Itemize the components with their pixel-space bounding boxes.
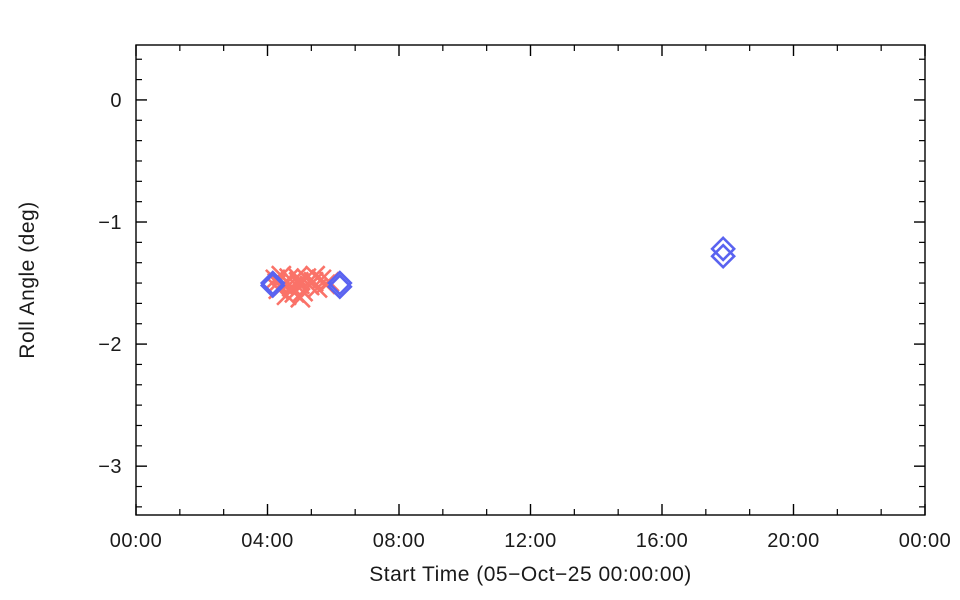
x-axis-title: Start Time (05−Oct−25 00:00:00) [369, 563, 692, 586]
data-point-diamond [712, 238, 734, 260]
y-tick-label: −2 [98, 334, 122, 356]
data-point-cross [291, 288, 310, 307]
x-tick-label: 04:00 [241, 530, 294, 552]
y-tick-label: −1 [98, 212, 122, 234]
y-tick-label: −3 [98, 456, 122, 478]
x-tick-label: 08:00 [373, 530, 426, 552]
y-tick-label: 0 [110, 90, 122, 112]
plot-frame [136, 45, 925, 515]
data-point-diamond [712, 245, 734, 267]
y-axis-title: Roll Angle (deg) [16, 201, 39, 358]
chart-canvas: 00:0004:0008:0012:0016:0020:0000:000−1−2… [0, 0, 960, 600]
scatter-plot-figure: 00:0004:0008:0012:0016:0020:0000:000−1−2… [0, 0, 960, 600]
diamond-marker-group [262, 238, 734, 298]
x-tick-label: 00:00 [110, 530, 163, 552]
x-tick-label: 16:00 [636, 530, 689, 552]
x-tick-label: 00:00 [899, 530, 952, 552]
x-tick-label: 20:00 [767, 530, 820, 552]
x-tick-label: 12:00 [504, 530, 557, 552]
